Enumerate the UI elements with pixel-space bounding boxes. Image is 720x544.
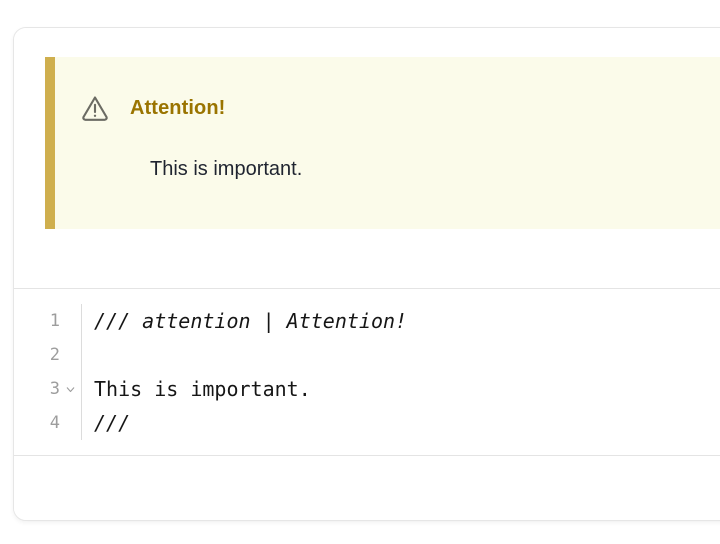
code-line-text[interactable]: /// (82, 411, 720, 435)
admonition-example-card: Attention! This is important. 1 /// atte… (13, 27, 720, 521)
code-line[interactable]: 2 (14, 338, 720, 372)
admonition-body-text: This is important. (150, 158, 302, 181)
code-line[interactable]: 3 This is important. (14, 372, 720, 406)
admonition-title: Attention! (130, 97, 225, 120)
card-footer (14, 456, 720, 521)
line-number: 3 (14, 379, 60, 399)
code-line[interactable]: 4 /// (14, 406, 720, 440)
fold-toggle[interactable] (60, 384, 81, 395)
gutter-rule (81, 338, 82, 372)
line-number: 4 (14, 413, 60, 433)
code-lines: 1 /// attention | Attention! 2 3 (14, 304, 720, 440)
code-line-text[interactable]: /// attention | Attention! (82, 309, 720, 333)
page-root: Attention! This is important. 1 /// atte… (0, 0, 720, 544)
code-line[interactable]: 1 /// attention | Attention! (14, 304, 720, 338)
chevron-down-icon (65, 384, 76, 395)
line-number: 2 (14, 345, 60, 365)
code-pane[interactable]: 1 /// attention | Attention! 2 3 (14, 289, 720, 455)
admonition-title-row: Attention! (80, 93, 225, 123)
attention-admonition: Attention! This is important. (45, 57, 720, 229)
warning-triangle-icon (80, 93, 110, 123)
code-line-text[interactable]: This is important. (82, 377, 720, 401)
preview-pane: Attention! This is important. (14, 28, 720, 288)
line-number: 1 (14, 311, 60, 331)
